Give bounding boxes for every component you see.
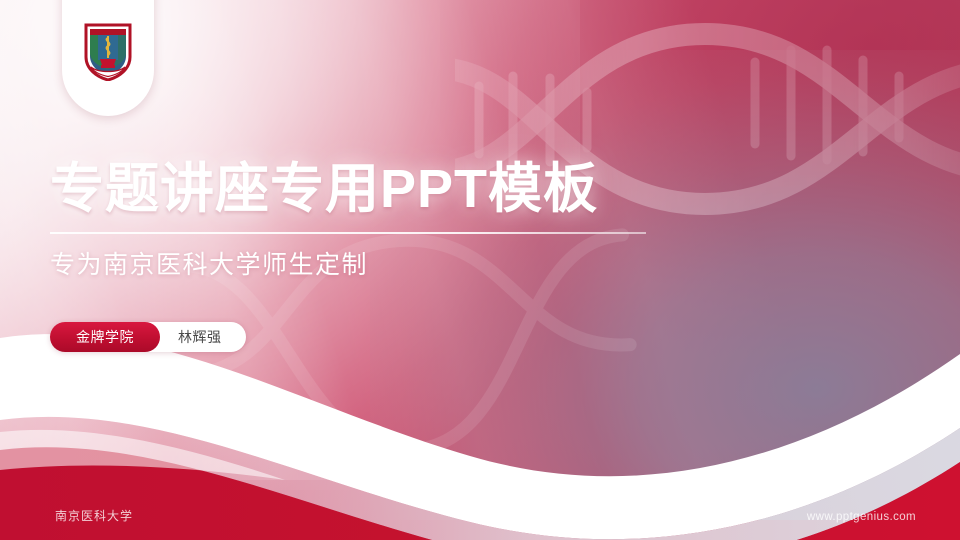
page-title: 专题讲座专用PPT模板 <box>50 160 750 218</box>
presentation-slide: 专题讲座专用PPT模板 专为南京医科大学师生定制 金牌学院 林辉强 南京医科大学… <box>0 0 960 540</box>
logo-tab <box>62 0 154 116</box>
title-divider <box>50 232 646 234</box>
presenter-name: 林辉强 <box>160 327 242 347</box>
footer-institution: 南京医科大学 <box>55 507 133 524</box>
presenter-badge: 金牌学院 林辉强 <box>50 322 246 352</box>
footer-website: www.pptgenius.com <box>807 511 916 523</box>
title-block: 专题讲座专用PPT模板 专为南京医科大学师生定制 金牌学院 林辉强 <box>50 160 750 352</box>
university-crest-icon <box>84 23 132 81</box>
page-subtitle: 专为南京医科大学师生定制 <box>50 250 750 280</box>
badge-tag-label: 金牌学院 <box>50 322 160 352</box>
